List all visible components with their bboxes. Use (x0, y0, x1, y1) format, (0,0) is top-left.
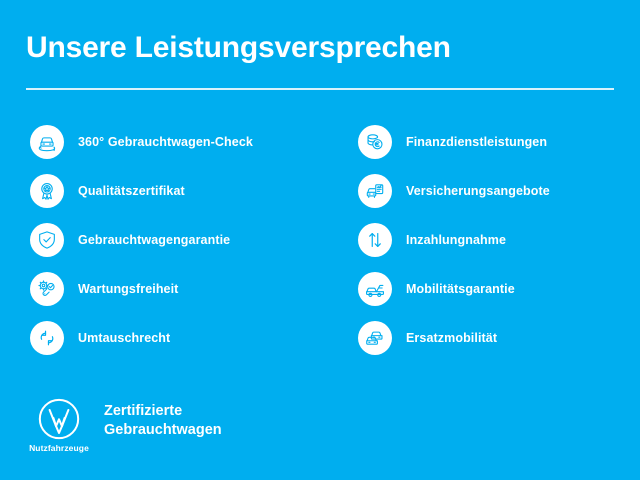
car-360-check-icon (30, 125, 64, 159)
list-item: Inzahlungnahme (358, 220, 550, 260)
coins-euro-icon (358, 125, 392, 159)
list-item: Wartungsfreiheit (30, 269, 253, 309)
car-insurance-document-icon (358, 174, 392, 208)
list-item: 360° Gebrauchtwagen-Check (30, 122, 253, 162)
list-item-label: Inzahlungnahme (406, 233, 506, 247)
list-item: Ersatzmobilität (358, 318, 550, 358)
up-down-arrows-icon (358, 223, 392, 257)
exchange-arrows-icon (30, 321, 64, 355)
list-item: Qualitätszertifikat (30, 171, 253, 211)
list-item: Finanzdienstleistungen (358, 122, 550, 162)
tow-truck-icon (358, 272, 392, 306)
list-item: Umtauschrecht (30, 318, 253, 358)
two-cars-icon (358, 321, 392, 355)
list-item: Versicherungsangebote (358, 171, 550, 211)
footer-tagline-line2: Gebrauchtwagen (104, 421, 222, 440)
footer-tagline: Zertifizierte Gebrauchtwagen (104, 402, 222, 440)
vw-logo-subtitle: Nutzfahrzeuge (29, 443, 89, 453)
title-divider (26, 88, 614, 90)
promises-right-column: Finanzdienstleistungen Versicherungsange… (358, 122, 550, 367)
page-title: Unsere Leistungsversprechen (26, 31, 451, 65)
list-item-label: Versicherungsangebote (406, 184, 550, 198)
list-item-label: Finanzdienstleistungen (406, 135, 547, 149)
promises-left-column: 360° Gebrauchtwagen-Check Qualitätszerti… (30, 122, 253, 367)
list-item-label: Umtauschrecht (78, 331, 170, 345)
list-item-label: Mobilitätsgarantie (406, 282, 515, 296)
footer-tagline-line1: Zertifizierte (104, 402, 222, 421)
vw-logo-block: Nutzfahrzeuge (26, 396, 92, 453)
quality-award-rosette-icon (30, 174, 64, 208)
shield-check-icon (30, 223, 64, 257)
list-item-label: Qualitätszertifikat (78, 184, 185, 198)
list-item-label: Gebrauchtwagengarantie (78, 233, 230, 247)
list-item: Mobilitätsgarantie (358, 269, 550, 309)
list-item: Gebrauchtwagengarantie (30, 220, 253, 260)
list-item-label: Wartungsfreiheit (78, 282, 178, 296)
promises-slide: Unsere Leistungsversprechen 360° Gebrauc… (0, 0, 640, 480)
vw-logo-icon (36, 396, 82, 442)
footer-branding: Nutzfahrzeuge Zertifizierte Gebrauchtwag… (26, 396, 222, 453)
list-item-label: Ersatzmobilität (406, 331, 497, 345)
wrench-gear-check-icon (30, 272, 64, 306)
list-item-label: 360° Gebrauchtwagen-Check (78, 135, 253, 149)
